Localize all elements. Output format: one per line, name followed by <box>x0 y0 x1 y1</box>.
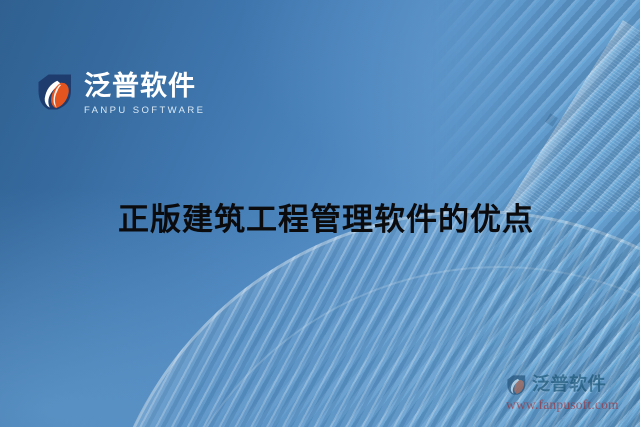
brand-logo: 泛普软件 FANPU SOFTWARE <box>36 72 205 116</box>
watermark-url: www.fanpusoft.com <box>506 397 638 412</box>
page-title: 正版建筑工程管理软件的优点 <box>118 198 534 242</box>
banner-stage: 泛普软件 FANPU SOFTWARE 正版建筑工程管理软件的优点 泛普软件 w… <box>0 0 640 427</box>
watermark-brand-row: 泛普软件 <box>506 374 638 396</box>
brand-name-chinese: 泛普软件 <box>84 72 205 102</box>
watermark: 泛普软件 www.fanpusoft.com <box>506 374 638 412</box>
brand-name-english: FANPU SOFTWARE <box>84 105 205 116</box>
brand-logo-wordmark: 泛普软件 FANPU SOFTWARE <box>84 72 205 116</box>
watermark-brand-name: 泛普软件 <box>532 375 606 395</box>
watermark-fanpu-logo-mark-icon <box>506 374 528 396</box>
fanpu-logo-mark-icon <box>36 72 76 112</box>
